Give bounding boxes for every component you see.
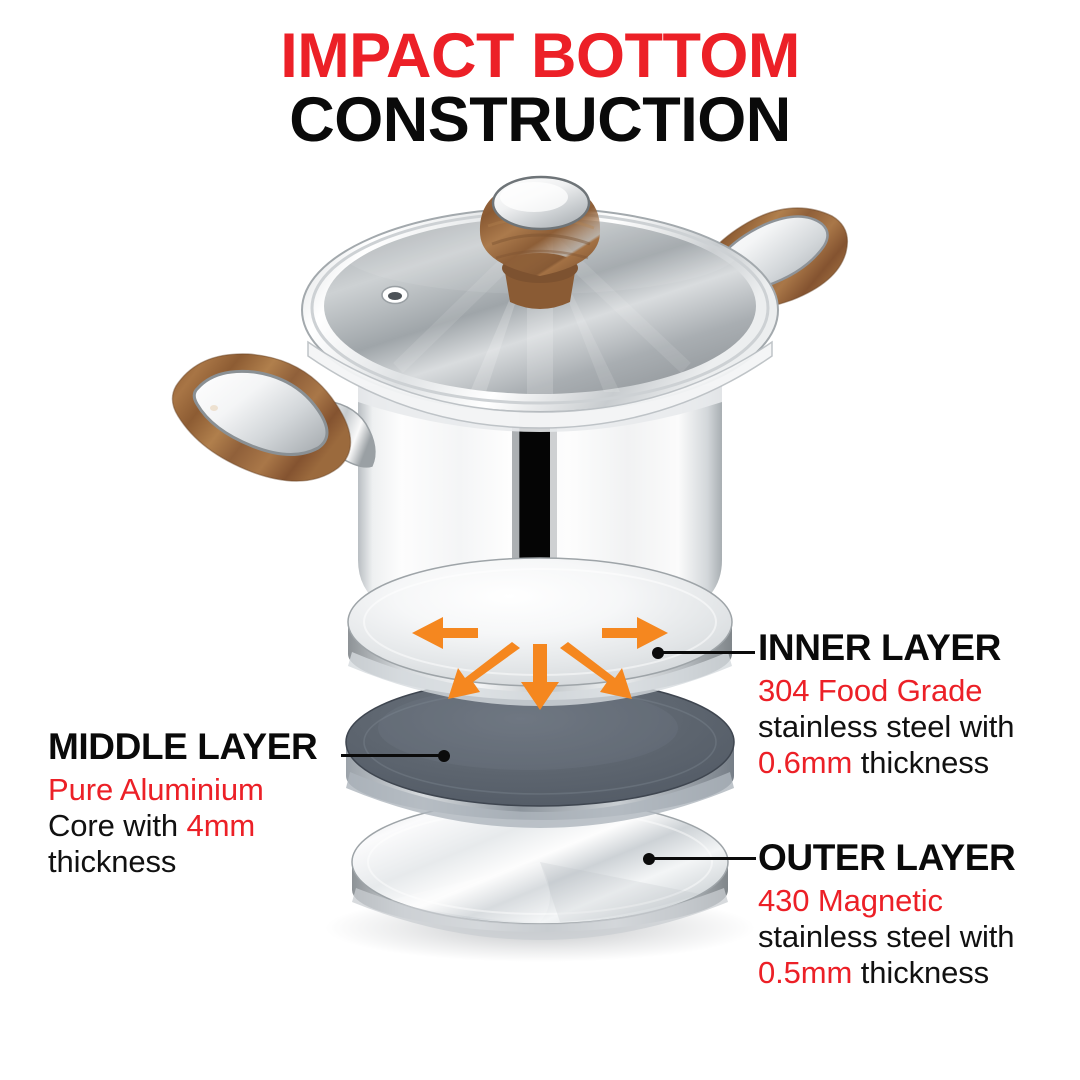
callout-middle-line3: thickness [48,844,317,880]
callout-inner-layer: INNER LAYER 304 Food Grade stainless ste… [758,628,1014,782]
callout-middle-line1: Pure Aluminium [48,772,317,808]
callout-inner-line2: stainless steel with [758,709,1014,745]
callout-outer-line1: 430 Magnetic [758,883,1015,919]
leader-dot-outer [643,853,655,865]
callout-outer-line3: 0.5mm thickness [758,955,1015,991]
leader-line-inner [655,651,755,654]
steam-vent-hole [382,287,408,304]
leader-dot-middle [438,750,450,762]
callout-inner-thickness-label: thickness [852,745,989,780]
callout-middle-heading: MIDDLE LAYER [48,727,317,767]
callout-inner-line1: 304 Food Grade [758,673,1014,709]
callout-outer-thickness-label: thickness [852,955,989,990]
callout-inner-body: 304 Food Grade stainless steel with 0.6m… [758,673,1014,782]
leader-line-middle [341,754,447,757]
callout-outer-thickness: 0.5mm [758,955,852,990]
leader-dot-inner [652,647,664,659]
inner-layer-disc [348,558,732,710]
callout-outer-heading: OUTER LAYER [758,838,1015,878]
callout-middle-layer: MIDDLE LAYER Pure Aluminium Core with 4m… [48,727,317,881]
callout-outer-layer: OUTER LAYER 430 Magnetic stainless steel… [758,838,1015,992]
callout-middle-body: Pure Aluminium Core with 4mm thickness [48,772,317,881]
callout-middle-line2: Core with 4mm [48,808,317,844]
leader-line-outer [646,857,756,860]
callout-inner-thickness: 0.6mm [758,745,852,780]
callout-middle-core-label: Core with [48,808,187,843]
infographic-canvas: IMPACT BOTTOM CONSTRUCTION [0,0,1080,1080]
callout-middle-thickness: 4mm [187,808,256,843]
callout-inner-heading: INNER LAYER [758,628,1014,668]
callout-inner-line3: 0.6mm thickness [758,745,1014,781]
callout-outer-line2: stainless steel with [758,919,1015,955]
callout-outer-body: 430 Magnetic stainless steel with 0.5mm … [758,883,1015,992]
